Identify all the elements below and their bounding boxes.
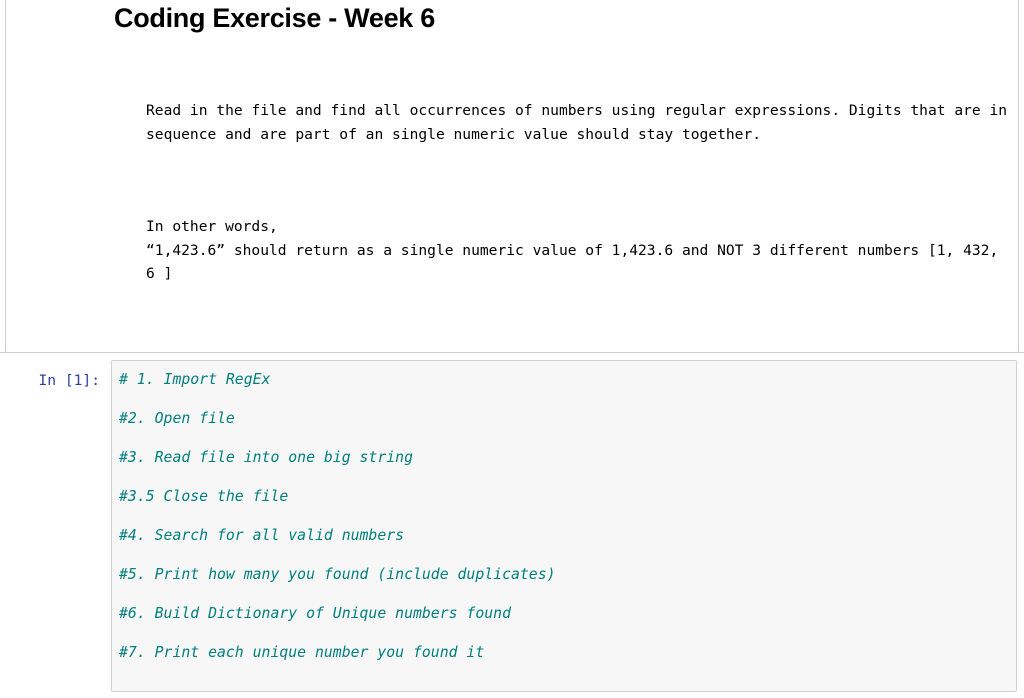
- code-line: #4. Search for all valid numbers: [119, 526, 1008, 546]
- code-input-area[interactable]: # 1. Import RegEx #2. Open file #3. Read…: [111, 360, 1017, 692]
- code-line: #7. Print each unique number you found i…: [119, 643, 1008, 663]
- code-line: #6. Build Dictionary of Unique numbers f…: [119, 604, 1008, 624]
- code-line: #3.5 Close the file: [119, 487, 1008, 507]
- cell-divider: [0, 352, 1024, 353]
- code-cell-prompt: In [1]:: [0, 371, 100, 391]
- code-cell[interactable]: In [1]: # 1. Import RegEx #2. Open file …: [0, 360, 1024, 698]
- page-title: Coding Exercise - Week 6: [114, 1, 1008, 35]
- notebook-container: Coding Exercise - Week 6 Read in the fil…: [0, 0, 1024, 698]
- code-line: #2. Open file: [119, 409, 1008, 429]
- markdown-cell[interactable]: Coding Exercise - Week 6 Read in the fil…: [5, 0, 1019, 353]
- markdown-paragraph: Read in the file and find all occurrence…: [146, 99, 1008, 145]
- code-line: #3. Read file into one big string: [119, 448, 1008, 468]
- code-line: # 1. Import RegEx: [119, 370, 1008, 390]
- code-line: #5. Print how many you found (include du…: [119, 565, 1008, 585]
- markdown-paragraph: In other words, “1,423.6” should return …: [146, 215, 1008, 285]
